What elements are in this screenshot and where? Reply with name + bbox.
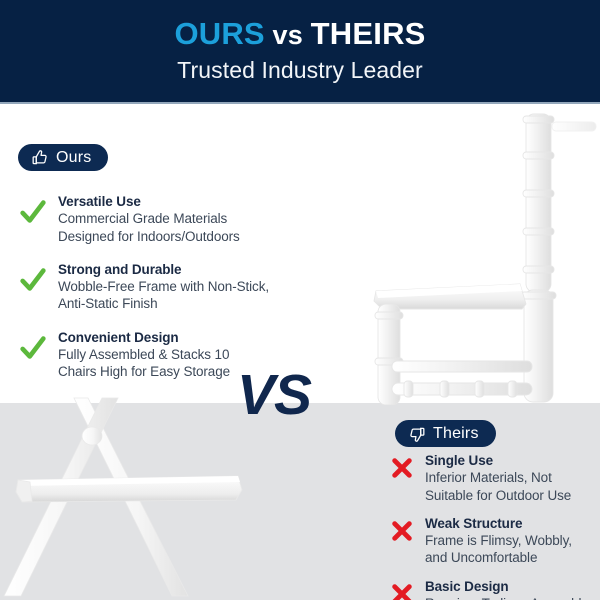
header-banner: OURS vs THEIRS Trusted Industry Leader (0, 0, 600, 104)
list-item-title: Weak Structure (425, 515, 572, 532)
list-item-desc: Frame is Flimsy, Wobbly,and Uncomfortabl… (425, 532, 572, 567)
list-item: Strong and Durable Wobble-Free Frame wit… (18, 261, 308, 313)
theirs-badge[interactable]: Theirs (395, 420, 496, 447)
infographic-canvas: OURS vs THEIRS Trusted Industry Leader O… (0, 0, 600, 600)
list-item-title: Versatile Use (58, 193, 240, 210)
theirs-feature-list: Single Use Inferior Materials, NotSuitab… (385, 452, 600, 600)
list-item: Weak Structure Frame is Flimsy, Wobbly,a… (385, 515, 600, 567)
list-item-desc: Requires Tedious Assemblyand Chairs Do N… (425, 595, 588, 600)
list-item-desc: Inferior Materials, NotSuitable for Outd… (425, 469, 571, 504)
list-item: Versatile Use Commercial Grade Materials… (18, 193, 308, 245)
check-icon (18, 265, 48, 295)
page-title: OURS vs THEIRS (174, 18, 425, 51)
thumbs-down-icon (408, 425, 426, 443)
cross-icon (389, 581, 415, 600)
list-item-desc: Fully Assembled & Stacks 10Chairs High f… (58, 346, 230, 381)
ours-badge-label: Ours (56, 149, 91, 167)
list-item: Single Use Inferior Materials, NotSuitab… (385, 452, 600, 504)
theirs-badge-label: Theirs (433, 425, 479, 443)
chiavari-chair-photo (330, 108, 600, 405)
list-item-title: Basic Design (425, 578, 588, 595)
check-icon (18, 333, 48, 363)
title-theirs: THEIRS (311, 16, 426, 51)
list-item: Basic Design Requires Tedious Assemblyan… (385, 578, 600, 600)
ours-badge[interactable]: Ours (18, 144, 108, 171)
ours-feature-list: Versatile Use Commercial Grade Materials… (18, 193, 308, 380)
list-item-title: Convenient Design (58, 329, 230, 346)
vs-label: VS (237, 367, 311, 424)
list-item-desc: Wobble-Free Frame with Non-Stick,Anti-St… (58, 278, 269, 313)
page-subtitle: Trusted Industry Leader (177, 57, 423, 84)
cross-icon (389, 518, 415, 544)
cross-icon (389, 455, 415, 481)
list-item-title: Single Use (425, 452, 571, 469)
thumbs-up-icon (31, 149, 49, 167)
title-vs: vs (273, 20, 303, 50)
check-icon (18, 197, 48, 227)
list-item-desc: Commercial Grade MaterialsDesigned for I… (58, 210, 240, 245)
list-item-title: Strong and Durable (58, 261, 269, 278)
title-ours: OURS (174, 16, 264, 51)
